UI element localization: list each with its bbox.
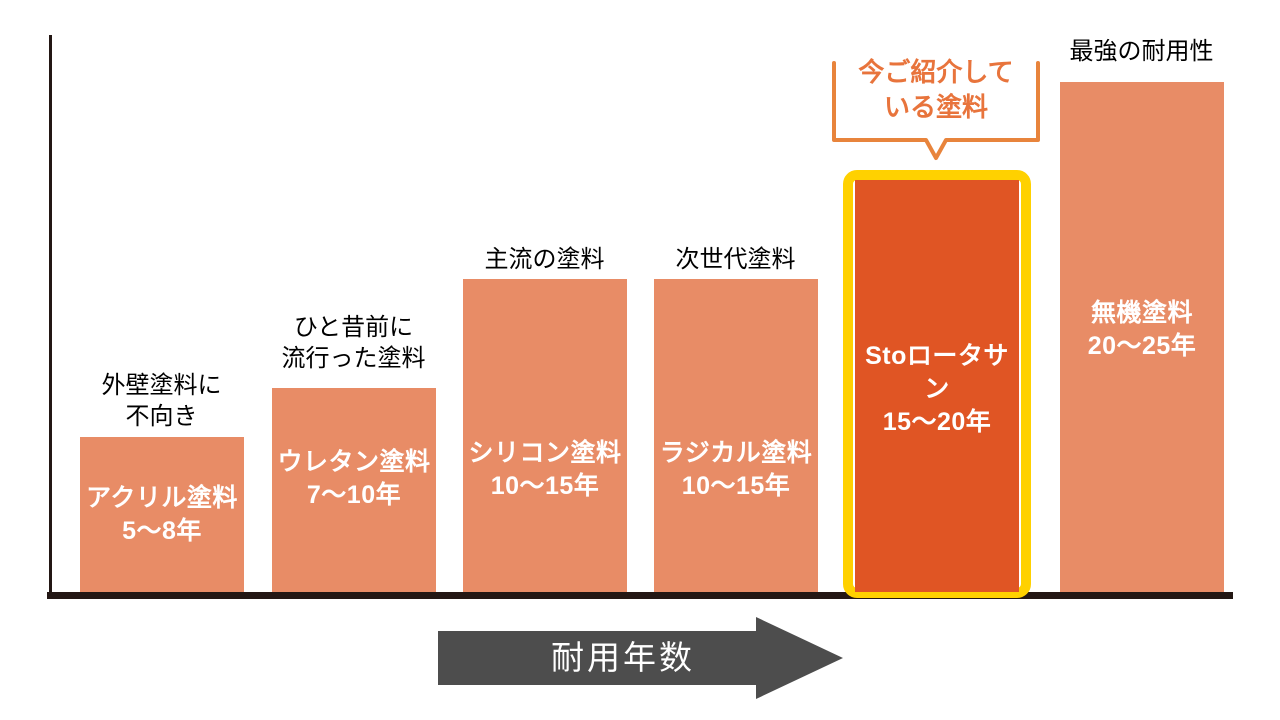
- x-axis-baseline: [47, 592, 1233, 599]
- y-axis-line: [49, 35, 52, 595]
- bar-label-inorganic: 無機塗料 20〜25年: [1060, 297, 1224, 363]
- callout-bracket-icon: [828, 55, 1044, 163]
- durability-bar-chart: 外壁塗料に 不向き アクリル塗料 5〜8年 ひと昔前に 流行った塗料 ウレタン塗…: [0, 0, 1280, 720]
- bar-label-acrylic: アクリル塗料 5〜8年: [80, 482, 244, 548]
- x-axis-arrow-label: 耐用年数: [438, 635, 808, 681]
- bar-radical: ラジカル塗料 10〜15年: [654, 279, 818, 592]
- bar-top-label-inorganic: 最強の耐用性: [1043, 36, 1240, 67]
- bar-label-urethane: ウレタン塗料 7〜10年: [272, 446, 436, 512]
- bar-inorganic: 無機塗料 20〜25年: [1060, 82, 1224, 592]
- bar-urethane: ウレタン塗料 7〜10年: [272, 388, 436, 592]
- bar-label-silicone: シリコン塗料 10〜15年: [463, 437, 627, 503]
- bar-top-label-urethane: ひと昔前に 流行った塗料: [255, 312, 452, 374]
- bar-silicone: シリコン塗料 10〜15年: [463, 279, 627, 592]
- bar-label-sto-rotasan: Stoロータサン 15〜20年: [855, 340, 1019, 439]
- bar-acrylic: アクリル塗料 5〜8年: [80, 437, 244, 592]
- callout-current-product: 今ご紹介して いる塗料: [828, 55, 1044, 163]
- bar-top-label-radical: 次世代塗料: [637, 244, 834, 275]
- bar-label-radical: ラジカル塗料 10〜15年: [654, 437, 818, 503]
- x-axis-arrow: 耐用年数: [438, 617, 843, 699]
- bar-top-label-silicone: 主流の塗料: [446, 244, 643, 275]
- bar-top-label-acrylic: 外壁塗料に 不向き: [63, 370, 260, 432]
- bar-sto-rotasan: Stoロータサン 15〜20年: [855, 180, 1019, 592]
